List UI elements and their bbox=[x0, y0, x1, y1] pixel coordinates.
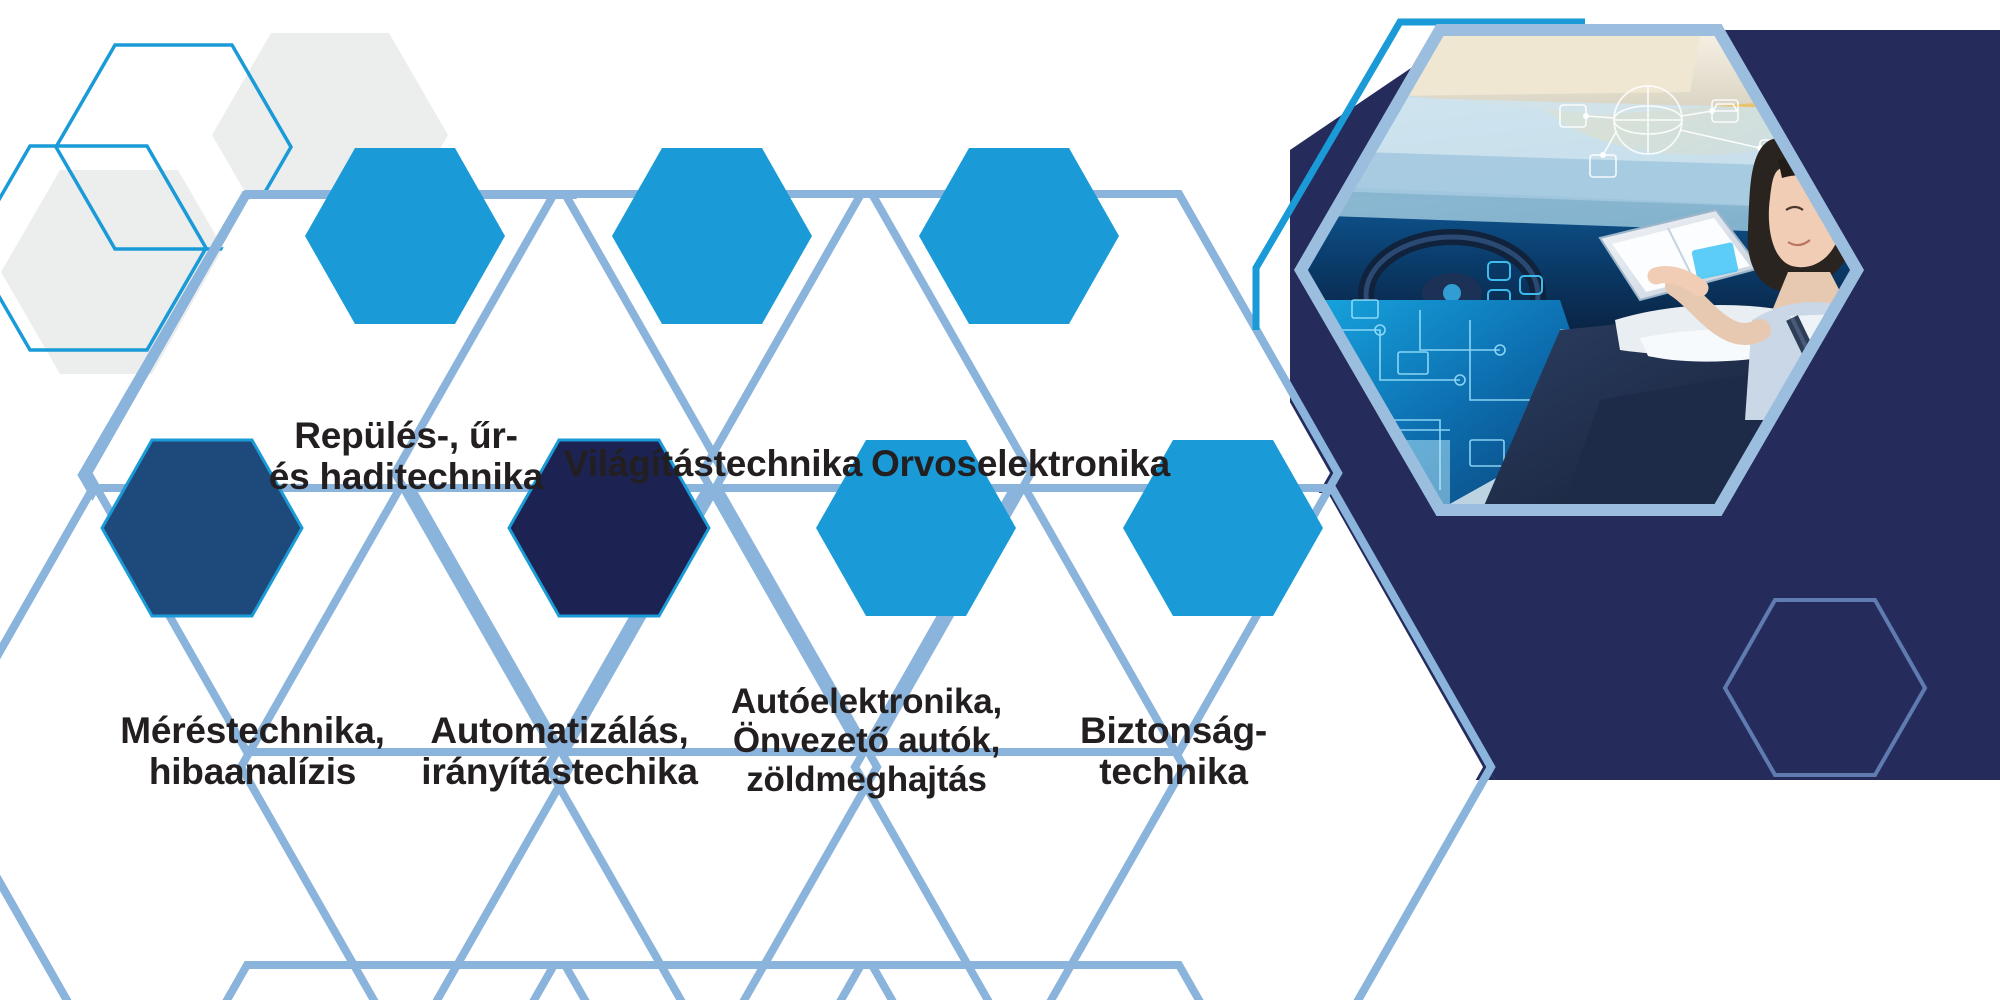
infographic-stage: Repülés-, űr- és haditechnika Világítást… bbox=[0, 0, 2000, 1000]
hexagon-scene bbox=[0, 0, 2000, 1000]
